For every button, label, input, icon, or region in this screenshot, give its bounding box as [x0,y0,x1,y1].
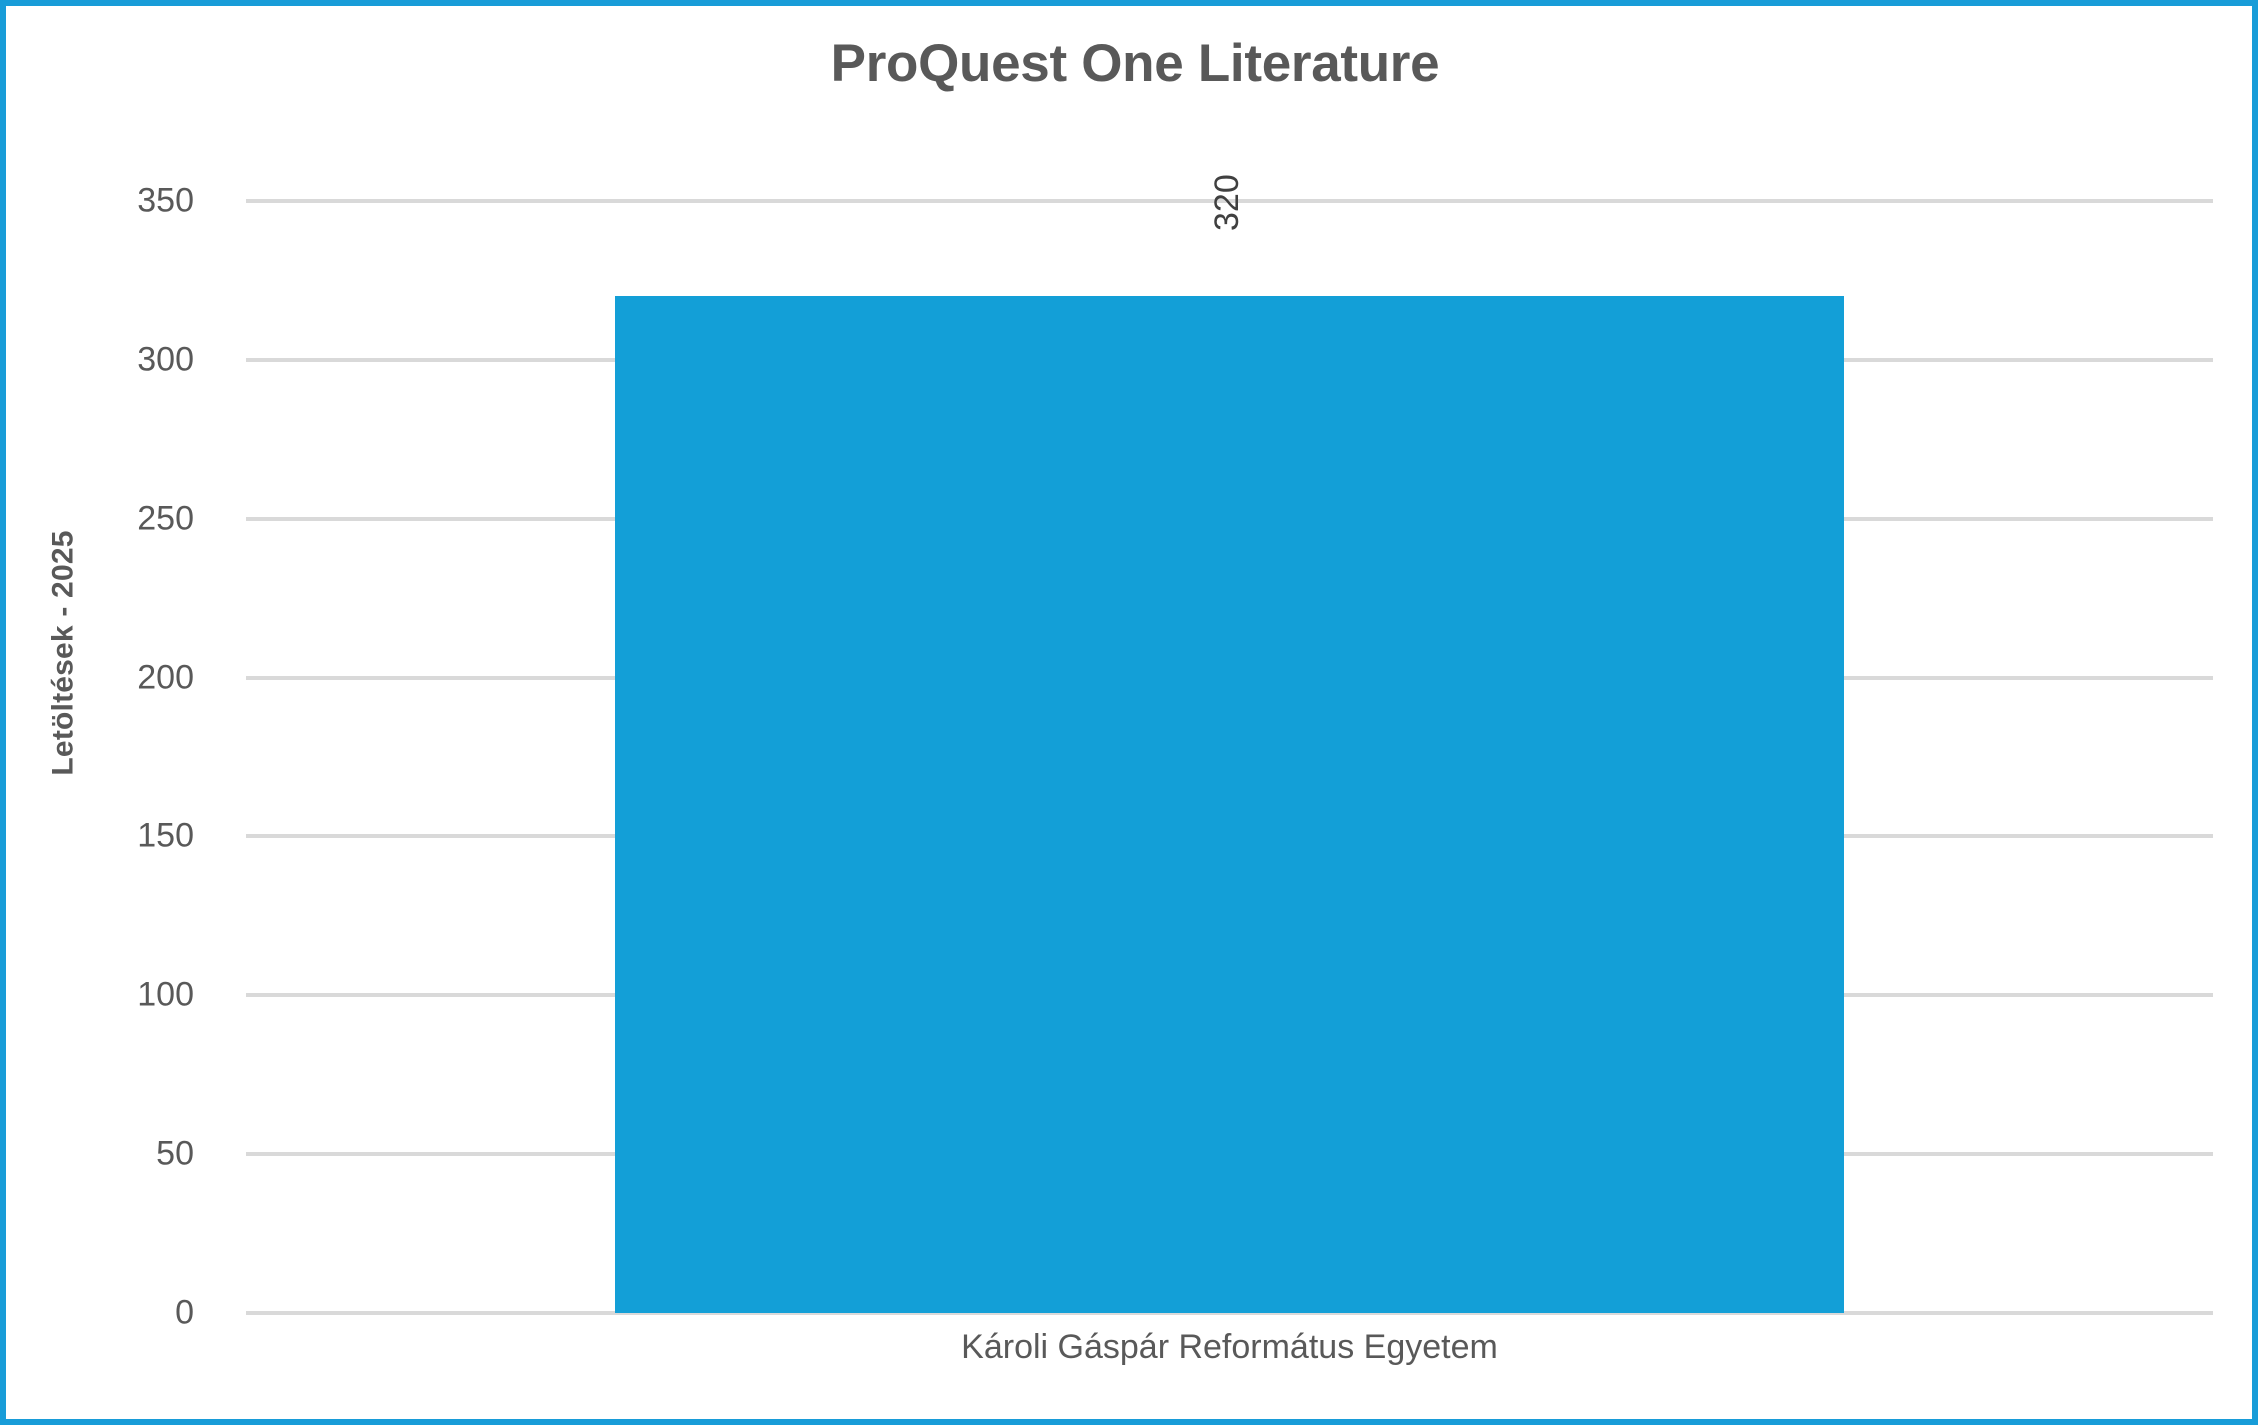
bar-series: 320 [246,201,2213,1313]
bar-value-label: 320 [1208,175,1247,232]
y-axis-tick-label: 200 [137,658,194,697]
y-axis-tick-label: 0 [175,1294,194,1333]
plot-area: 320 [246,201,2213,1313]
y-axis-tick-labels: 350300250200150100500 [6,201,218,1313]
chart-container: ProQuest One Literature Letöltések - 202… [0,0,2258,1425]
y-axis-tick-label: 350 [137,182,194,221]
y-axis-tick-label: 150 [137,817,194,856]
chart-title: ProQuest One Literature [6,33,2258,94]
y-axis-tick-label: 300 [137,340,194,379]
y-axis-tick-label: 100 [137,976,194,1015]
y-axis-tick-label: 250 [137,499,194,538]
x-axis-tick-label: Károli Gáspár Református Egyetem [246,1328,2213,1367]
x-axis-tick-labels: Károli Gáspár Református Egyetem [246,1328,2213,1367]
bar[interactable] [615,296,1844,1313]
y-axis-tick-label: 50 [156,1135,194,1174]
